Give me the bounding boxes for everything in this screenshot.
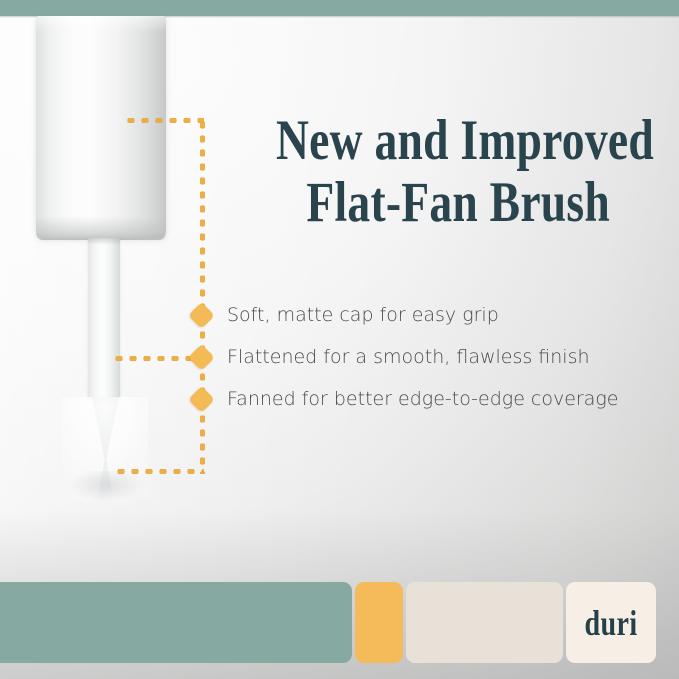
diamond-bullet-icon (188, 344, 215, 371)
product-image (0, 16, 215, 516)
bottle-cap (36, 16, 166, 238)
feature-item: Soft, matte cap for easy grip (190, 300, 660, 342)
brand-logo-text: duri (584, 605, 637, 641)
dotted-connector-to-cap (124, 118, 204, 123)
headline-line-1: New and Improved (276, 110, 596, 172)
feature-item: Fanned for better edge-to-edge coverage (190, 384, 660, 426)
feature-item: Flattened for a smooth, flawless finish (190, 342, 660, 384)
color-swatch-amber (355, 582, 403, 663)
brush-stem (88, 238, 120, 398)
feature-item-label: Fanned for better edge-to-edge coverage (227, 384, 618, 414)
bottle-cap-highlight (36, 16, 166, 32)
feature-item-label: Soft, matte cap for easy grip (227, 300, 499, 330)
brush-stem-joint (88, 238, 120, 245)
brush-bristles (62, 397, 148, 501)
color-swatch-sage-green (0, 582, 352, 663)
promo-graphic: New and Improved Flat-Fan Brush Soft, ma… (0, 0, 679, 679)
headline: New and Improved Flat-Fan Brush (276, 110, 596, 234)
bottle-cap-shadow (36, 216, 166, 240)
feature-list: Soft, matte cap for easy grip Flattened … (190, 300, 660, 426)
headline-line-2: Flat-Fan Brush (276, 172, 596, 234)
brand-logo: duri (566, 582, 656, 663)
feature-item-label: Flattened for a smooth, flawless finish (227, 342, 590, 372)
dotted-connector-to-bristles (114, 469, 204, 474)
diamond-bullet-icon (188, 386, 215, 413)
top-accent-bar (0, 0, 679, 16)
color-swatch-beige (406, 582, 563, 663)
diamond-bullet-icon (188, 302, 215, 329)
